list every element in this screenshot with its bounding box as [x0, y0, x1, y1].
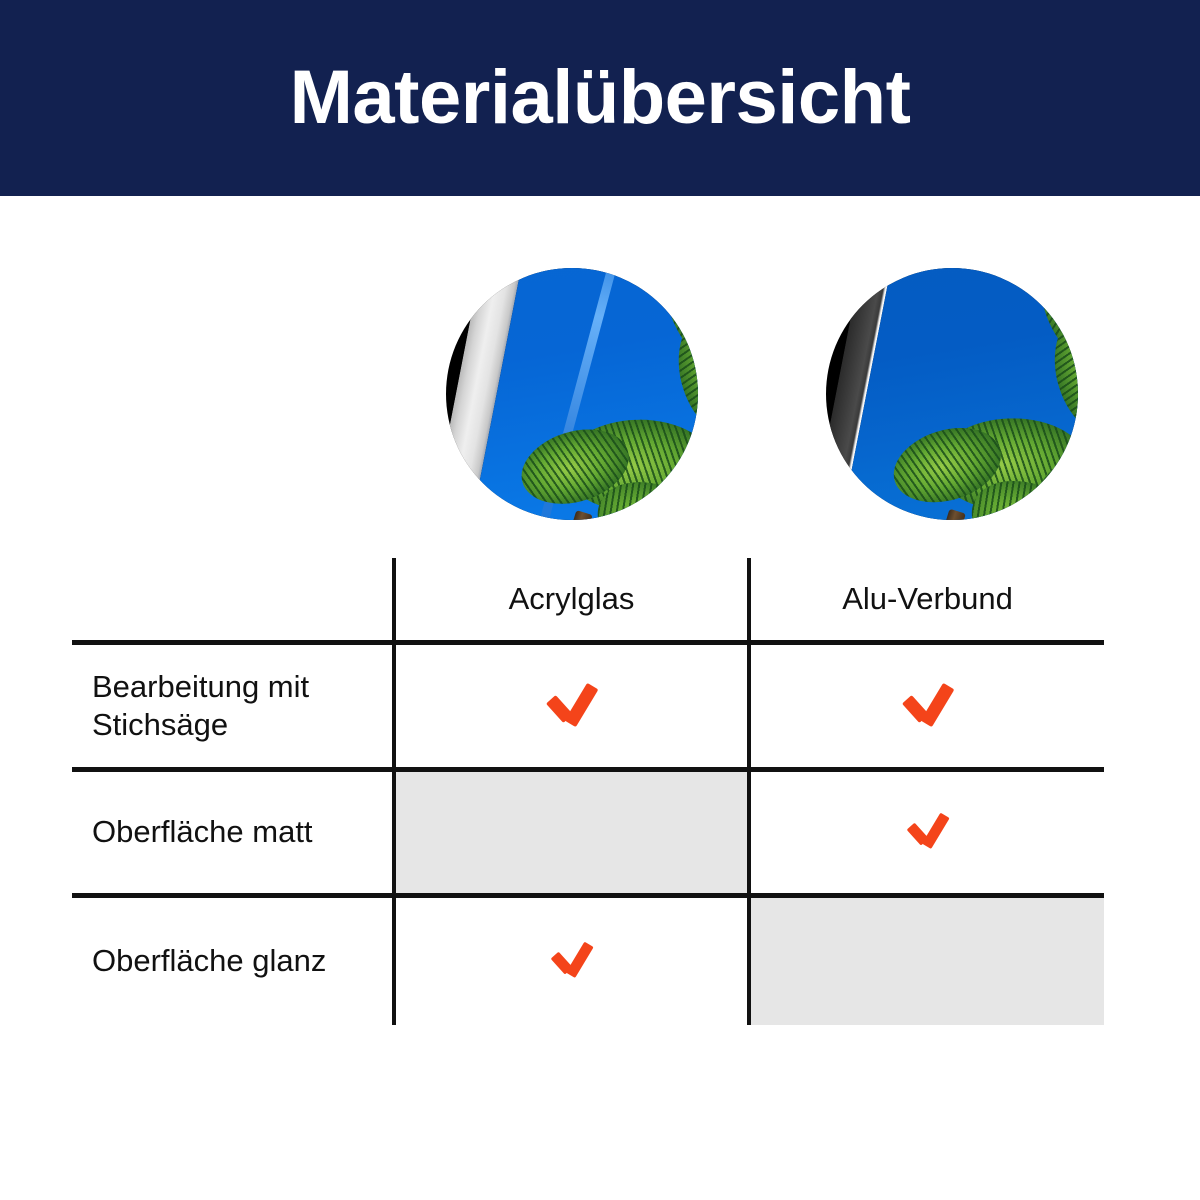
table-corner-cell: [72, 558, 394, 643]
page-header: Materialübersicht: [0, 0, 1200, 196]
material-comparison-table: Acrylglas Alu-Verbund Bearbeitung mit St…: [72, 558, 1104, 1010]
table-row: Oberfläche glanz: [72, 896, 1104, 1026]
cell-bearbeitung-alu-verbund: [749, 643, 1104, 770]
cell-glanz-acrylglas: [394, 896, 749, 1026]
check-icon: [905, 814, 949, 847]
acrylglas-sample-image: [446, 268, 698, 520]
table-row: Oberfläche matt: [72, 770, 1104, 896]
row-label-line-1: Bearbeitung mit: [92, 669, 309, 704]
row-label-bearbeitung-stichsaege: Bearbeitung mit Stichsäge: [72, 643, 394, 770]
alu-verbund-plate: [826, 268, 1078, 520]
row-label-oberflaeche-matt: Oberfläche matt: [72, 770, 394, 896]
column-header-acrylglas: Acrylglas: [394, 558, 749, 643]
row-label-line-1: Oberfläche matt: [92, 814, 313, 849]
alu-verbund-sample-image: [826, 268, 1078, 520]
check-icon: [901, 684, 955, 724]
cell-matt-alu-verbund: [749, 770, 1104, 896]
row-label-line-1: Oberfläche glanz: [92, 943, 326, 978]
page-title: Materialübersicht: [290, 60, 911, 136]
material-sample-row: [0, 268, 1200, 520]
cell-glanz-alu-verbund: [749, 896, 1104, 1026]
cell-bearbeitung-acrylglas: [394, 643, 749, 770]
row-label-line-2: Stichsäge: [92, 707, 228, 742]
check-icon: [549, 943, 593, 976]
column-header-alu-verbund: Alu-Verbund: [749, 558, 1104, 643]
acrylglas-plate: [446, 268, 698, 520]
row-label-oberflaeche-glanz: Oberfläche glanz: [72, 896, 394, 1026]
cell-matt-acrylglas: [394, 770, 749, 896]
table-header-row: Acrylglas Alu-Verbund: [72, 558, 1104, 643]
check-icon: [545, 684, 599, 724]
table-row: Bearbeitung mit Stichsäge: [72, 643, 1104, 770]
